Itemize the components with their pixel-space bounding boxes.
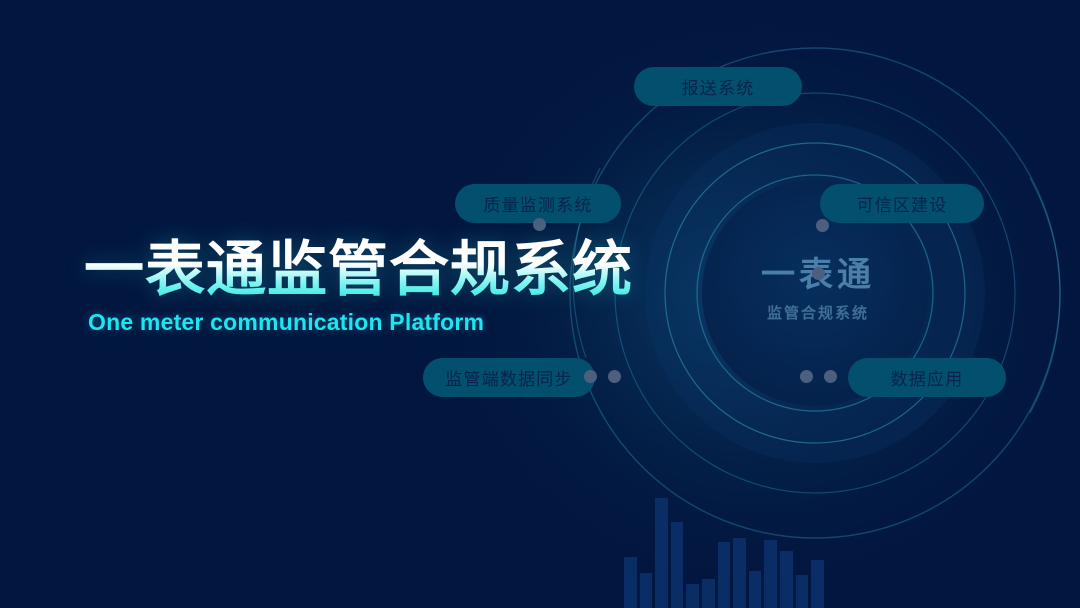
bar: [624, 557, 637, 608]
orbit-diagram: 一表通 监管合规系统: [560, 28, 1070, 548]
connector-dot-sync-outer: [608, 370, 621, 383]
node-label-quality: 质量监测系统: [483, 191, 592, 216]
bar: [686, 584, 699, 608]
node-pill-trusted[interactable]: 可信区建设: [820, 184, 984, 223]
connector-dot-data-inner: [800, 370, 813, 383]
node-pill-data[interactable]: 数据应用: [848, 358, 1006, 397]
node-label-report: 报送系统: [682, 74, 755, 99]
node-label-sync: 监管端数据同步: [445, 365, 572, 390]
bar: [640, 573, 653, 608]
bar: [796, 575, 809, 608]
slide-canvas: 一表通 监管合规系统 报送系统 质量监测系统 可信区建设 监管端数据同步 数据应…: [0, 0, 1080, 608]
bar: [749, 571, 762, 608]
bar: [780, 551, 793, 608]
orbit-rings: [560, 28, 1070, 548]
connector-dot-quality: [533, 218, 546, 231]
connector-dot-sync-inner: [584, 370, 597, 383]
node-pill-report[interactable]: 报送系统: [634, 67, 802, 106]
node-pill-sync[interactable]: 监管端数据同步: [423, 358, 595, 397]
bar: [702, 579, 715, 608]
connector-dot-trusted: [816, 219, 829, 232]
node-label-data: 数据应用: [891, 365, 964, 390]
bar: [733, 538, 746, 608]
bar: [764, 540, 777, 608]
connector-dot-data-outer: [824, 370, 837, 383]
bar: [718, 542, 731, 608]
node-label-trusted: 可信区建设: [857, 191, 948, 216]
bar: [811, 560, 824, 608]
connector-dot-right-upper: [812, 267, 825, 280]
